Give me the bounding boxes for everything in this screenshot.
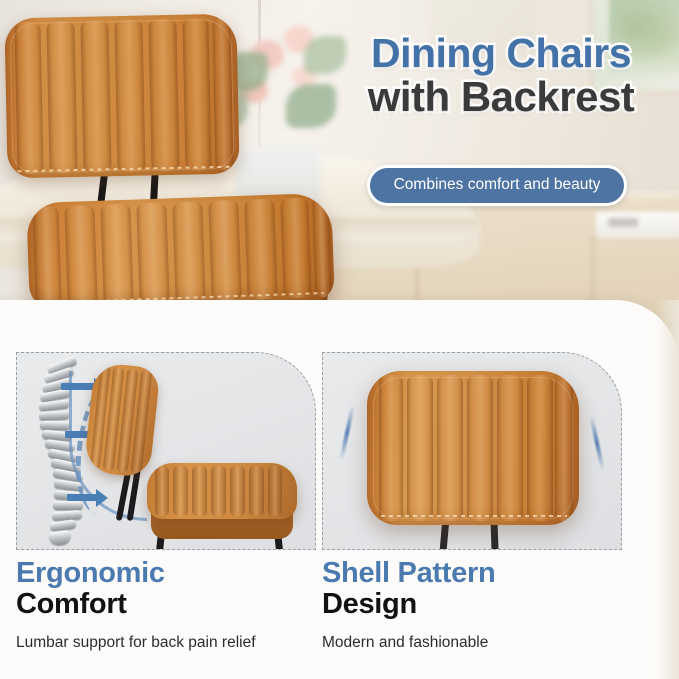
mini-chair-seat [147, 463, 297, 519]
motion-accent-icon [339, 405, 355, 461]
channel-tufting [4, 14, 239, 179]
stitch-line [381, 515, 567, 517]
chair-backrest [4, 14, 239, 179]
support-arrow-icon [67, 494, 97, 501]
headline-line-1: Dining Chairs [326, 32, 676, 75]
feature-title-dark: Design [322, 589, 622, 620]
chair-seat [26, 193, 335, 312]
feature-panels: Ergonomic Comfort Lumbar support for bac… [0, 352, 679, 679]
feature-image-backrest-closeup [322, 352, 622, 550]
right-background-edge [655, 300, 679, 679]
feature-text-shell-pattern: Shell Pattern Design Modern and fashiona… [322, 558, 622, 652]
feature-panel-ergonomic-comfort: Ergonomic Comfort Lumbar support for bac… [16, 352, 316, 550]
tagline-badge-wrapper: Combines comfort and beauty [332, 165, 662, 206]
feature-caption: Lumbar support for back pain relief [16, 634, 316, 652]
motion-accent-icon [589, 415, 605, 471]
tray-object [608, 218, 638, 227]
product-marketing-image: Dining Chairs with Backrest Combines com… [0, 0, 679, 679]
headline: Dining Chairs with Backrest [326, 32, 676, 118]
feature-title-blue: Ergonomic [16, 558, 316, 588]
closeup-backrest [367, 371, 579, 525]
feature-panel-shell-pattern-design: Shell Pattern Design Modern and fashiona… [322, 352, 622, 550]
headline-line-2: with Backrest [326, 75, 676, 119]
feature-title-dark: Comfort [16, 589, 316, 620]
tagline-badge: Combines comfort and beauty [367, 165, 628, 206]
channel-tufting [367, 371, 579, 525]
feature-title-blue: Shell Pattern [322, 558, 622, 588]
feature-caption: Modern and fashionable [322, 634, 622, 652]
mini-chair-backrest [83, 362, 160, 478]
support-arrow-icon [61, 383, 95, 390]
feature-text-ergonomic: Ergonomic Comfort Lumbar support for bac… [16, 558, 316, 652]
feature-image-spine-support [16, 352, 316, 550]
